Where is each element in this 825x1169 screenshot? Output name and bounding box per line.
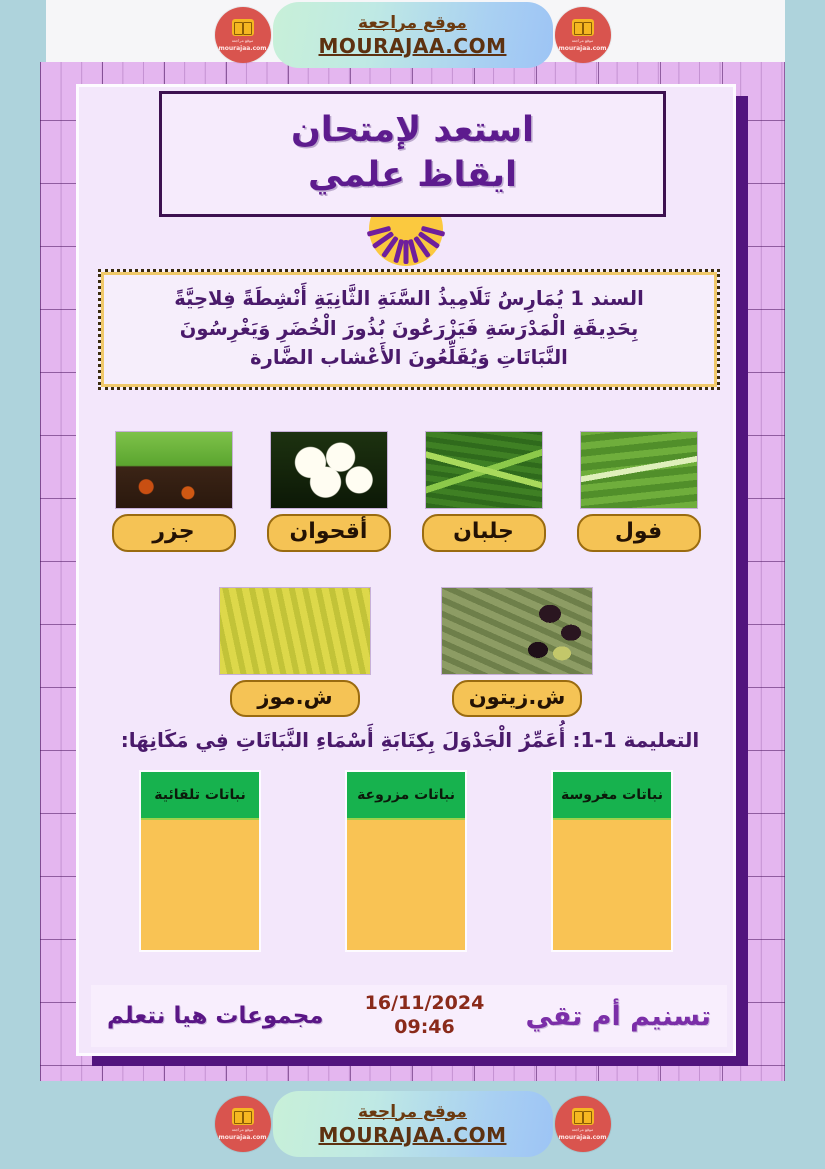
logo-url-text: mourajaa.com [218, 1134, 266, 1141]
footer-author-name: تسنيم أم تقي [525, 1001, 711, 1032]
header-line-2: تلقائية [154, 787, 200, 804]
table-column-planted: نباتات مغروسة [551, 770, 673, 952]
broadbean-photo [580, 431, 698, 509]
banner-arabic-label: موقع مراجعة [358, 1102, 467, 1122]
mourajaa-logo-icon-right: موقع مراجعة mourajaa.com [555, 7, 611, 63]
plant-card-banana-tree: ش.موز [219, 587, 371, 717]
footer-date: 16/11/2024 [365, 992, 485, 1016]
logo-arabic-text: موقع مراجعة [572, 1127, 594, 1132]
plant-card-chrysanthemum: أقحوان [259, 431, 399, 552]
plant-label-olive-tree: ش.زيتون [452, 680, 582, 717]
book-icon [232, 1108, 254, 1125]
source-line-1: السند 1 يُمَارِسُ تَلَامِيذُ السَّنَةِ ا… [117, 284, 701, 314]
table-cell-planted[interactable] [553, 820, 671, 950]
plant-photo-row-2: ش.موز ش.زيتون [79, 587, 733, 717]
table-header-sown: نباتات مزروعة [347, 772, 465, 820]
mourajaa-logo-icon-left: موقع مراجعة mourajaa.com [215, 7, 271, 63]
banner-url-label[interactable]: MOURAJAA.COM [319, 34, 507, 58]
header-line-1: نباتات [414, 787, 455, 804]
plant-label-banana-tree: ش.موز [230, 680, 360, 717]
carrot-photo [115, 431, 233, 509]
worksheet-page: موقع مراجعة mourajaa.com موقع مراجعة MOU… [0, 0, 825, 1169]
card-footer: مجموعات هيا نتعلم 16/11/2024 09:46 تسنيم… [91, 985, 727, 1047]
header-line-1: نباتات [205, 787, 246, 804]
footer-group-label: مجموعات هيا نتعلم [107, 1003, 324, 1029]
plant-photo-row-1: جزر أقحوان جلبان فول [79, 431, 733, 552]
footer-timestamp: 16/11/2024 09:46 [365, 992, 485, 1040]
plant-card-carrot: جزر [104, 431, 244, 552]
header-line-2: مزروعة [357, 787, 409, 804]
book-icon [572, 19, 594, 36]
book-icon [572, 1108, 594, 1125]
source-line-3: النَّبَاتَاتِ وَيُقَلِّعُونَ الأَعْشاب ا… [117, 343, 701, 373]
top-site-banner: موقع مراجعة mourajaa.com موقع مراجعة MOU… [0, 0, 825, 70]
logo-url-text: mourajaa.com [218, 45, 266, 52]
plant-card-pea: جلبان [414, 431, 554, 552]
bottom-site-banner: موقع مراجعة MOURAJAA.COM موقع مراجعة mou… [0, 1089, 825, 1159]
footer-time: 09:46 [365, 1016, 485, 1040]
table-cell-spontaneous[interactable] [141, 820, 259, 950]
page-title: استعد لإمتحان ايقاظ علمي [159, 91, 666, 217]
plant-label-pea: جلبان [422, 514, 546, 552]
instruction-text: التعليمة 1-1: أُعَمِّرُ الْجَدْوَلَ بِكِ… [93, 728, 727, 752]
table-cell-sown[interactable] [347, 820, 465, 950]
source-text-panel: السند 1 يُمَارِسُ تَلَامِيذُ السَّنَةِ ا… [98, 269, 720, 390]
logo-arabic-text: موقع مراجعة [572, 38, 594, 43]
olive-tree-photo [441, 587, 593, 675]
table-column-sown: نباتات مزروعة [345, 770, 467, 952]
banner-url-label[interactable]: MOURAJAA.COM [319, 1123, 507, 1147]
classification-table: نباتات تلقائية نباتات مزروعة نباتات مغرو… [79, 770, 733, 952]
banner-pill-bottom[interactable]: موقع مراجعة MOURAJAA.COM موقع مراجعة mou… [273, 1091, 553, 1157]
plant-card-broadbean: فول [569, 431, 709, 552]
logo-url-text: mourajaa.com [558, 1134, 606, 1141]
logo-arabic-text: موقع مراجعة [232, 38, 254, 43]
table-header-spontaneous: نباتات تلقائية [141, 772, 259, 820]
logo-url-text: mourajaa.com [558, 45, 606, 52]
header-line-1: نباتات [622, 787, 663, 804]
mourajaa-logo-icon-left: موقع مراجعة mourajaa.com [215, 1096, 271, 1152]
worksheet-card: استعد لإمتحان ايقاظ علمي السند 1 يُمَارِ… [76, 84, 736, 1056]
banner-arabic-label: موقع مراجعة [358, 13, 467, 33]
banana-tree-photo [219, 587, 371, 675]
plant-label-broadbean: فول [577, 514, 701, 552]
table-header-planted: نباتات مغروسة [553, 772, 671, 820]
title-line-1: استعد لإمتحان [172, 108, 653, 153]
banner-pill[interactable]: موقع مراجعة MOURAJAA.COM موقع مراجعة mou… [273, 2, 553, 68]
logo-arabic-text: موقع مراجعة [232, 1127, 254, 1132]
mourajaa-logo-icon-right: موقع مراجعة mourajaa.com [555, 1096, 611, 1152]
plant-label-carrot: جزر [112, 514, 236, 552]
plant-card-olive-tree: ش.زيتون [441, 587, 593, 717]
book-icon [232, 19, 254, 36]
title-line-2: ايقاظ علمي [172, 153, 653, 198]
table-column-spontaneous: نباتات تلقائية [139, 770, 261, 952]
pea-photo [425, 431, 543, 509]
chrysanthemum-photo [270, 431, 388, 509]
source-line-2: بِحَدِيقَةِ الْمَدْرَسَةِ فَيَزْرَعُونَ … [117, 314, 701, 344]
header-line-2: مغروسة [561, 787, 617, 804]
plant-label-chrysanthemum: أقحوان [267, 514, 391, 552]
